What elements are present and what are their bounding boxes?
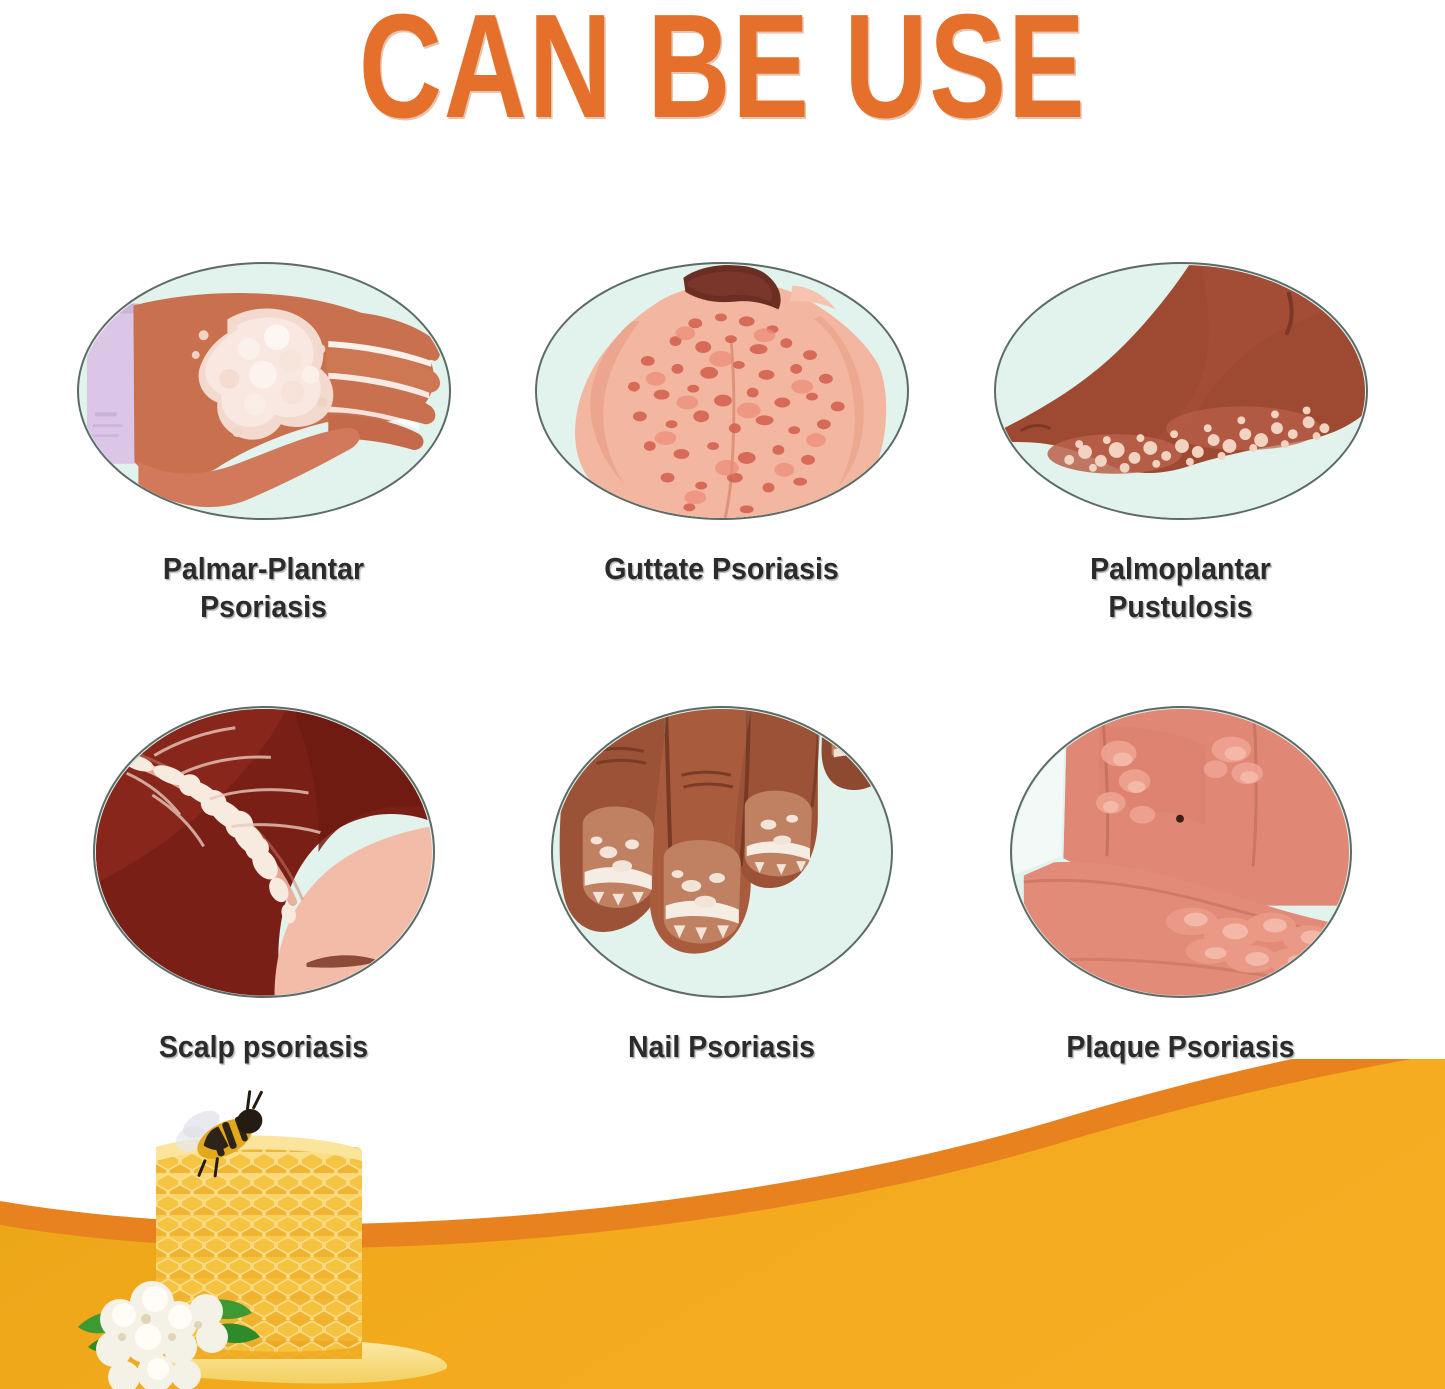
panel-guttate-psoriasis[interactable]: Guttate Psoriasis [481, 258, 962, 706]
panel-image-oval [93, 706, 435, 998]
panel-palmoplantar-pustulosis[interactable]: Palmoplantar Pustulosis [940, 258, 1421, 706]
foot-with-pustules-illustration [996, 264, 1366, 519]
caption-line-2: Psoriasis [42, 588, 485, 626]
panel-image-oval [535, 262, 909, 520]
panel-caption: Palmar-Plantar Psoriasis [42, 550, 485, 626]
caption-line-1: Guttate Psoriasis [500, 550, 943, 588]
elbow-with-plaque-illustration [1012, 708, 1350, 997]
hand-with-plaque-illustration [79, 264, 449, 519]
caption-line-1: Palmoplantar [959, 550, 1402, 588]
panel-palmar-plantar-psoriasis[interactable]: Palmar-Plantar Psoriasis [23, 258, 504, 706]
footer-honey-band [0, 1059, 1445, 1389]
panel-image-oval [77, 262, 451, 520]
panel-caption: Palmoplantar Pustulosis [959, 550, 1402, 626]
psoriasis-type-grid: Palmar-Plantar Psoriasis [0, 258, 1445, 1154]
back-with-spots-illustration [537, 264, 907, 519]
grid-row-1: Palmar-Plantar Psoriasis [0, 258, 1445, 706]
panel-image-oval [994, 262, 1368, 520]
panel-caption: Guttate Psoriasis [500, 550, 943, 588]
page-title: CAN BE USE [159, 0, 1286, 142]
poster-canvas: CAN BE USE [0, 0, 1445, 1389]
toes-with-damaged-nails-illustration [553, 708, 891, 997]
caption-line-1: Palmar-Plantar [42, 550, 485, 588]
scalp-with-flakes-illustration [95, 708, 433, 997]
honeycomb-bee-flowers-illustration [60, 1089, 480, 1389]
caption-line-2: Pustulosis [959, 588, 1402, 626]
panel-image-oval [1010, 706, 1352, 998]
panel-image-oval [551, 706, 893, 998]
